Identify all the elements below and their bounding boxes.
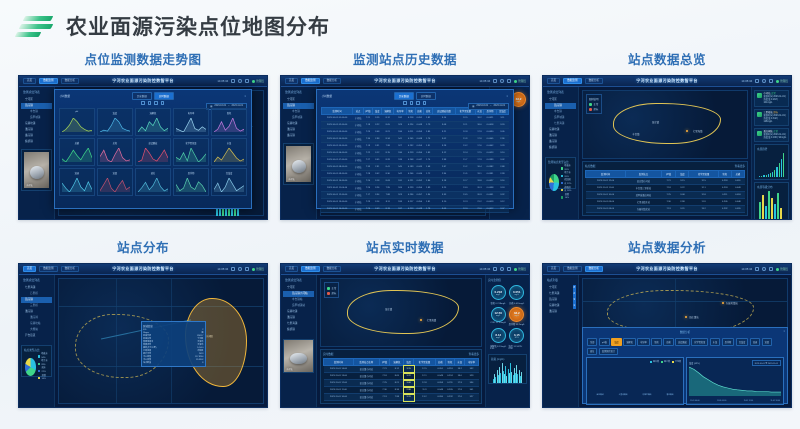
refresh-icon[interactable]: [762, 79, 766, 83]
table-cell: 8.34: [390, 387, 404, 394]
mini-trend-chart[interactable]: 水温: [211, 138, 247, 166]
table-cell: 12.8: [414, 380, 436, 387]
table-cell: 7.30: [363, 136, 373, 143]
metric-tag[interactable]: pH值: [599, 338, 610, 346]
table-cell: 7.26: [363, 206, 373, 213]
gauge[interactable]: 12.50mg/LCOD 12.50mg/L: [490, 307, 507, 327]
table-header-cell[interactable]: 化学需氧量: [414, 358, 436, 365]
metric-tag[interactable]: 溶解氧: [623, 338, 636, 346]
metric-tag[interactable]: 高锰酸盐: [675, 338, 690, 346]
sidebar-tree[interactable]: 七里海镇万里桥苗庄镇三里桥潘庄镇潘庄闸东棘坨站大杨站芦台街道: [21, 285, 52, 339]
table-cell: 2.98: [676, 199, 689, 206]
trend-modal[interactable]: 小时数据 历史数据 实时数据 × ▦: [54, 89, 252, 209]
table-row[interactable]: 2023-11-01 12:00苗庄镇小河站7.258.213.0812.80.…: [324, 380, 479, 387]
table-header-cell[interactable]: pH值: [379, 358, 390, 365]
table-cell: 0.051: [731, 178, 744, 185]
stat-row[interactable]: 三里桥站 超标更新时间 2023-11-01 | 浓度值 0.342 | 128…: [754, 109, 789, 126]
panel-title: 站点数据: [585, 164, 595, 168]
bar: [521, 372, 522, 383]
table-header-cell[interactable]: 氨氮: [718, 170, 731, 177]
card-title: 点位监测数据走势图: [84, 52, 201, 68]
print-icon[interactable]: [161, 101, 165, 105]
signal-icon[interactable]: [231, 267, 235, 271]
tab-analysis[interactable]: 数据分析: [585, 78, 603, 85]
metric-tag[interactable]: 流量: [762, 338, 772, 346]
table-row[interactable]: 2023-11-01 11:00丰台镇三里桥站7.183.2212.10.224…: [586, 185, 745, 192]
date-range-picker[interactable]: ▦ 2023-10-01 ~ 2023-11-01: [468, 103, 509, 110]
metric-tag[interactable]: 监测频次统计: [599, 348, 618, 356]
metric-tag[interactable]: 浑浊度: [736, 338, 749, 346]
mini-trend-chart[interactable]: 流量: [97, 168, 133, 196]
home-icon[interactable]: [507, 79, 511, 83]
tab-analysis[interactable]: 数据分析: [585, 266, 603, 273]
card-distribution: 站点分布 首页 数据监测 数据分析 宁河农业面源污染防控数智平台 14:05:3…: [18, 240, 268, 426]
clock: 14:05:34: [217, 267, 228, 271]
gauge[interactable]: 33.2mg/L悬浮物 33.2mg/L: [509, 307, 526, 327]
table-row[interactable]: 2023-11-01 12:00苗庄镇小河站7.213.1512.50.2180…: [586, 178, 745, 185]
table-cell: 12.8: [689, 192, 718, 199]
sidebar-tree[interactable]: 宁河区8七里海镇2苗庄镇3东棘坨镇1潘庄镇: [545, 285, 576, 315]
table-cell: 1.91: [424, 143, 433, 150]
sidebar-item-label: 丰台镇站: [292, 298, 302, 301]
legend-swatch: [561, 182, 562, 185]
right-rail: 小河站 正常更新时间 2023-11-01 | 浓度值 0.218 | 101m…: [751, 87, 791, 219]
refresh-icon[interactable]: [500, 79, 504, 83]
table-cell: 宁河站: [353, 157, 363, 164]
table-row[interactable]: 2023-10-01 10:00:00宁河站7.243.188.095310.2…: [321, 178, 508, 185]
metric-tag[interactable]: 流速: [750, 338, 760, 346]
legend-label: 养殖排水 16%: [564, 187, 572, 194]
device-shape: [290, 353, 306, 365]
region-map[interactable]: 正常 超标 苗庄镇 七里海镇: [320, 278, 482, 347]
mini-chart-title: 总氮: [100, 141, 130, 145]
tab-analysis[interactable]: 数据分析: [61, 266, 79, 273]
table-header-cell[interactable]: 监测站点: [626, 170, 662, 177]
metric-tag[interactable]: 氨氮: [651, 338, 661, 346]
sidebar-item-label: 大杨站: [30, 328, 38, 331]
table-row[interactable]: 2023-11-01 08:00东棘坨镇北站7.193.3113.20.2320…: [586, 206, 745, 213]
dashboard-header-right: 14:05:34 管理员: [479, 267, 526, 271]
table-row[interactable]: 2023-10-01 05:00:00宁河站7.193.317.985270.2…: [321, 143, 508, 150]
stat-row[interactable]: 潘庄闸站 正常更新时间 2023-11-01 | 浓度值 0.196 | 94m…: [754, 128, 789, 142]
dashboard-screenshot-history[interactable]: 首页 数据监测 数据分析 宁河农业面源污染防控数智平台 14:05:34 管理员: [280, 75, 530, 220]
table-header-cell[interactable]: 站点: [353, 107, 363, 114]
table-row[interactable]: 2023-10-01 03:00:00宁河站7.253.088.215340.2…: [321, 129, 508, 136]
table-cell: 12.0: [456, 206, 476, 213]
trend-panel: 水质趋势: [754, 144, 789, 180]
metric-tag[interactable]: 电导率: [637, 338, 650, 346]
tab-monitor[interactable]: 数据监测: [301, 78, 319, 85]
table-header-cell[interactable]: 氨氮: [406, 107, 415, 114]
mini-trend-chart[interactable]: 浑浊度: [211, 168, 247, 196]
donut-chart: [25, 358, 36, 376]
sparkline: [62, 148, 92, 162]
x-tick: 11-01 06:00: [717, 400, 726, 402]
status-badge: 正常: [771, 93, 776, 95]
dashboard-tabs[interactable]: 首页 数据监测 数据分析: [547, 266, 603, 273]
table-cell: 2.98: [373, 136, 382, 143]
sidebar-tree[interactable]: 宁河区苗庄镇丰台镇造甲城镇七里海镇东棘坨镇潘庄镇廉庄镇板桥镇: [545, 97, 576, 151]
refresh-icon[interactable]: [238, 267, 242, 271]
mini-trend-chart[interactable]: 氨氮: [211, 108, 247, 136]
photo-caption: 小河站: [286, 367, 293, 371]
history-data-table[interactable]: 监测时间站点pH值浊度溶解氧电导率氨氮总磷总氮高锰酸盐指数化学需氧量水温悬浮物浑…: [321, 107, 509, 213]
sidebar-item[interactable]: 芦台街道: [21, 333, 52, 339]
tab-monitor[interactable]: 数据监测: [39, 78, 57, 85]
table-cell: 2.94: [433, 171, 456, 178]
table-cell: 539: [394, 157, 406, 164]
grid-icon[interactable]: [410, 101, 414, 105]
mini-trend-chart[interactable]: 电导率: [173, 108, 209, 136]
sidebar-item[interactable]: 板桥镇: [21, 139, 52, 145]
dashboard-screenshot-realtime[interactable]: 首页 数据监测 数据分析 宁河农业面源污染防控数智平台 14:05:34 管理员: [280, 263, 530, 408]
table-cell: 0.0419: [484, 199, 496, 206]
history-modal[interactable]: 小时数据 历史数据 实时数据 × ▦: [316, 89, 514, 209]
signal-icon[interactable]: [231, 79, 235, 83]
close-icon[interactable]: ×: [506, 94, 508, 98]
metric-tag[interactable]: 总磷: [663, 338, 673, 346]
realtime-data-table[interactable]: 监测时间监测站点名称pH值溶解氧浊度化学需氧量总磷氨氮水温电导率2023-11-…: [323, 358, 479, 401]
table-cell: 7.88: [382, 192, 394, 199]
table-cell: 0.0412: [484, 206, 496, 213]
tab-home[interactable]: 首页: [547, 266, 560, 273]
analysis-panel[interactable]: 数据分析 × 全部pH值浊度溶解氧电导率氨氮总磷高锰酸盐化学需氧量水温悬浮物浑浊…: [582, 327, 788, 404]
area-chart: [689, 366, 781, 400]
tab-home[interactable]: 首页: [285, 78, 298, 85]
sparkline: [138, 178, 168, 192]
home-icon[interactable]: [245, 79, 249, 83]
table-cell: 1.81: [424, 199, 433, 206]
gauge[interactable]: 3.15NTU浊度 3.15NTU 0.00: [509, 328, 526, 350]
table-row[interactable]: 2023-10-01 07:00:00宁河站7.273.058.285390.2…: [321, 157, 508, 164]
dashboard-tabs[interactable]: 首页 数据监测 数据分析: [285, 78, 341, 85]
table-cell: 3.11: [496, 115, 508, 122]
table-cell: 7.98: [382, 143, 394, 150]
table-cell: 8.21: [390, 380, 404, 387]
dashboard-header: 首页 数据监测 数据分析 宁河农业面源污染防控数智平台 14:05:34 管理员: [281, 264, 529, 275]
mini-chart-title: 氨氮: [214, 111, 244, 115]
table-header-cell[interactable]: 监测时间: [324, 358, 354, 365]
grid-icon[interactable]: [148, 101, 152, 105]
mini-trend-chart[interactable]: 溶解氧: [135, 108, 171, 136]
table-cell: 3.08: [373, 129, 382, 136]
user-menu[interactable]: 管理员: [514, 267, 526, 271]
table-cell: 541: [394, 136, 406, 143]
user-menu[interactable]: 管理员: [252, 79, 264, 83]
table-row[interactable]: 2023-10-01 06:00:00宁河站7.223.128.155360.2…: [321, 150, 508, 157]
signal-icon[interactable]: [755, 267, 759, 271]
tab-monitor[interactable]: 数据监测: [563, 78, 581, 85]
table-header-cell[interactable]: 监测时间: [586, 170, 626, 177]
table-row[interactable]: 2023-11-01 10:00造甲城潘庄闸站7.253.0812.80.211…: [586, 192, 745, 199]
print-icon[interactable]: [423, 101, 427, 105]
gauge-caption: 氨氮 0.218mg/L: [491, 301, 506, 305]
table-cell: 0.0423: [484, 150, 496, 157]
tab-home[interactable]: 首页: [23, 78, 36, 85]
table-row[interactable]: 2023-10-01 13:00:00宁河站7.233.148.115330.2…: [321, 199, 508, 206]
table-header-cell[interactable]: 浊度: [676, 170, 689, 177]
table-header-cell[interactable]: 电导率: [465, 358, 479, 365]
sidebar-item-label: 七里海镇: [549, 292, 559, 295]
list-icon[interactable]: [403, 101, 407, 105]
gauge[interactable]: 8.12mg/L溶解氧 8.12mg/L 0.00: [490, 328, 507, 350]
metric-tag[interactable]: 悬浮物: [722, 338, 735, 346]
table-header-cell[interactable]: 电导率: [394, 107, 406, 114]
gauge[interactable]: 0.218mg/L氨氮 0.218mg/L: [490, 285, 507, 305]
export-icon[interactable]: [154, 101, 158, 105]
table-header-cell[interactable]: 溶解氧: [382, 107, 394, 114]
table-row[interactable]: 2023-11-01 13:00苗庄镇小河站7.188.053.2212.10.…: [324, 373, 479, 380]
user-menu[interactable]: 管理员: [252, 267, 264, 271]
map-label: 七里海镇: [693, 129, 703, 133]
table-cell: 0.232: [718, 206, 731, 213]
gauge-unit: mg/L: [496, 337, 500, 339]
table-cell: 0.054: [415, 185, 424, 192]
table-header-cell[interactable]: 总磷: [731, 170, 744, 177]
bar: [759, 202, 761, 219]
table-cell: 宁河站: [353, 185, 363, 192]
table-header-cell[interactable]: 溶解氧: [390, 358, 404, 365]
calendar-icon: ▦: [472, 105, 474, 108]
export-icon[interactable]: [416, 101, 420, 105]
sidebar-item[interactable]: 板桥镇: [283, 327, 314, 333]
table-cell: 12.1: [414, 373, 436, 380]
sidebar-item[interactable]: 廉庄镇: [283, 133, 314, 139]
legend-swatch: [561, 196, 563, 199]
table-row[interactable]: 2023-10-01 04:00:00宁河站7.302.988.345410.2…: [321, 136, 508, 143]
table-cell: 7.21: [379, 366, 390, 373]
table-cell: 1.78: [424, 206, 433, 213]
table-cell: 3.09: [373, 206, 382, 213]
stat-row[interactable]: 小河站 正常更新时间 2023-11-01 | 浓度值 0.218 | 101m…: [754, 90, 789, 107]
signal-icon[interactable]: [755, 79, 759, 83]
home-icon[interactable]: [245, 267, 249, 271]
signal-icon[interactable]: [493, 267, 497, 271]
dashboard-header-right: 14:05:34 管理员: [741, 79, 788, 83]
clock: 14:05:34: [217, 79, 228, 83]
segment-realtime[interactable]: 实时数据: [416, 92, 436, 100]
photo-caption: 小河站: [26, 183, 33, 187]
tab-monitor[interactable]: 数据监测: [563, 266, 581, 273]
table-cell: 7.95: [382, 185, 394, 192]
sidebar-item-label: 潘庄镇: [25, 310, 33, 313]
table-cell: 8.05: [382, 122, 394, 129]
refresh-icon[interactable]: [500, 267, 504, 271]
metric-tag[interactable]: 浊度: [611, 338, 621, 346]
legend-label: 最大值: [653, 360, 659, 363]
table-cell: 18.0: [455, 373, 465, 380]
table-header-cell[interactable]: 氨氮: [445, 358, 455, 365]
sidebar-item[interactable]: 潘庄镇: [545, 309, 576, 315]
segment-realtime[interactable]: 实时数据: [154, 92, 174, 100]
table-header-cell[interactable]: 监测时间: [321, 107, 353, 114]
table-cell: 1.89: [424, 185, 433, 192]
region-label: 宁河区: [206, 334, 213, 338]
metric-tag[interactable]: 液位: [587, 348, 597, 356]
table-header-cell[interactable]: 浊度: [373, 107, 382, 114]
station-marker[interactable]: [722, 302, 724, 304]
table-header-cell[interactable]: 总磷: [415, 107, 424, 114]
gauge-ring: 0.051mg/L: [509, 285, 524, 300]
mini-trend-chart[interactable]: 浊度: [97, 108, 133, 136]
mini-trend-chart[interactable]: 流速: [59, 168, 95, 196]
bar: [772, 172, 773, 177]
table-header-cell[interactable]: pH值: [661, 170, 676, 177]
date-sep: ~: [490, 105, 491, 107]
bar: [774, 204, 776, 219]
mini-trend-chart[interactable]: 悬浮物: [173, 168, 209, 196]
table-cell: 2023-11-01 11:00: [586, 185, 626, 192]
more-link[interactable]: 查看更多: [735, 164, 745, 168]
table-cell: 7.22: [363, 150, 373, 157]
page-title: 农业面源污染点位地图分布: [66, 11, 330, 41]
table-header-cell[interactable]: 浊度: [404, 358, 414, 365]
signal-icon[interactable]: [493, 79, 497, 83]
region-map[interactable]: 图例说明 正常 超标 苗庄镇 七里海镇 丰台镇: [582, 90, 748, 159]
gauge[interactable]: 0.051mg/L总磷 0.051mg/L: [509, 285, 526, 305]
gauge-unit: mg/L: [496, 315, 500, 317]
mini-trend-chart[interactable]: pH: [59, 108, 95, 136]
trend-bars: [757, 153, 786, 177]
table-row[interactable]: 2023-10-01 09:00:00宁河站7.283.028.305420.2…: [321, 171, 508, 178]
table-header-cell[interactable]: 总氮: [424, 107, 433, 114]
table-cell: 534: [465, 380, 479, 387]
table-cell: 3.33: [433, 192, 456, 199]
table-cell: 12.5: [689, 178, 718, 185]
tab-monitor[interactable]: 数据监测: [39, 266, 57, 273]
dashboard-tabs[interactable]: 首页 数据监测 数据分析: [547, 78, 603, 85]
table-cell: 2023-10-01 12:00:00: [321, 192, 353, 199]
tab-home[interactable]: 首页: [23, 266, 36, 273]
tab-analysis[interactable]: 数据分析: [323, 78, 341, 85]
segment-history[interactable]: 历史数据: [394, 92, 414, 100]
dashboard-screenshot-trend[interactable]: 首页 数据监测 数据分析 宁河农业面源污染防控数智平台 14:05:34 管理员: [18, 75, 268, 220]
table-row[interactable]: 2023-10-01 02:00:00宁河站7.183.228.055290.2…: [321, 122, 508, 129]
side-chart-panel: 氨氮 (mg/L): [488, 354, 527, 384]
trend-chart-grid: pH浊度溶解氧电导率氨氮总磷总氮高锰酸盐化学需氧量水温流速流量液位悬浮物浑浊度: [58, 106, 248, 198]
dashboard-header: 首页 数据监测 数据分析 宁河农业面源污染防控数智平台 14:05:34 管理员: [19, 76, 267, 87]
dashboard-tabs[interactable]: 首页 数据监测 数据分析: [23, 78, 79, 85]
list-icon[interactable]: [141, 101, 145, 105]
refresh-icon[interactable]: [238, 79, 242, 83]
metric-tag-list[interactable]: 全部pH值浊度溶解氧电导率氨氮总磷高锰酸盐化学需氧量水温悬浮物浑浊度流速流量液位…: [585, 336, 785, 357]
table-cell: 3.31: [373, 143, 382, 150]
table-cell: 3.34: [373, 192, 382, 199]
tab-monitor[interactable]: 数据监测: [301, 266, 319, 273]
table-row[interactable]: 2023-11-01 10:00苗庄镇小河站7.197.983.3113.20.…: [324, 394, 479, 401]
mini-chart-title: 浑浊度: [214, 171, 244, 175]
table-cell: 0.049: [731, 185, 744, 192]
table-header-cell[interactable]: 水温: [455, 358, 465, 365]
table-header-cell[interactable]: 监测站点名称: [353, 358, 379, 365]
station-data-table[interactable]: 监测时间监测站点pH值浊度化学需氧量氨氮总磷2023-11-01 12:00苗庄…: [585, 170, 745, 213]
table-row[interactable]: 2023-10-01 01:00:00宁河站7.213.158.125320.2…: [321, 115, 508, 122]
table-header-cell[interactable]: pH值: [363, 107, 373, 114]
table-header-cell[interactable]: 高锰酸盐指数: [433, 107, 456, 114]
table-cell: 12.5: [414, 366, 436, 373]
table-row[interactable]: 2023-10-01 14:00:00宁河站7.263.098.195370.2…: [321, 206, 508, 213]
more-link[interactable]: 查看更多: [469, 352, 479, 356]
mini-trend-chart[interactable]: 化学需氧量: [173, 138, 209, 166]
table-cell: 0.232: [406, 143, 415, 150]
table-cell: 0.206: [406, 171, 415, 178]
table-row[interactable]: 2023-10-01 08:00:00宁河站7.332.918.415450.1…: [321, 164, 508, 171]
table-header-cell[interactable]: 化学需氧量: [689, 170, 718, 177]
tab-home[interactable]: 首页: [547, 78, 560, 85]
legend-swatch: [661, 361, 663, 363]
info-popup[interactable]: 区域信息FID2Shape面区域代码120117区域名称宁河区所属地级市天津市所…: [141, 321, 206, 367]
home-icon[interactable]: [769, 79, 773, 83]
metric-tag[interactable]: 全部: [587, 338, 597, 346]
dashboard-tabs[interactable]: 首页 数据监测 数据分析: [23, 266, 79, 273]
gauge-group: 0.218mg/L氨氮 0.218mg/L0.051mg/L总磷 0.051mg…: [488, 283, 527, 352]
mini-trend-chart[interactable]: 总氮: [97, 138, 133, 166]
home-icon[interactable]: [769, 267, 773, 271]
table-row[interactable]: 2023-11-01 11:00苗庄镇小河站7.308.342.9811.90.…: [324, 387, 479, 394]
table-row[interactable]: 2023-10-01 11:00:00宁河站7.203.267.955260.2…: [321, 185, 508, 192]
metric-tag[interactable]: 化学需氧量: [691, 338, 708, 346]
table-header-cell[interactable]: 总磷: [435, 358, 445, 365]
table-cell: 0.0382: [484, 164, 496, 171]
table-cell: 0.0438: [484, 185, 496, 192]
mini-trend-chart[interactable]: 总磷: [59, 138, 95, 166]
tab-analysis[interactable]: 数据分析: [61, 78, 79, 85]
tab-analysis[interactable]: 数据分析: [323, 266, 341, 273]
table-cell: 2023-11-01 14:00: [324, 366, 354, 373]
user-menu[interactable]: 管理员: [514, 79, 526, 83]
modal-segment-control[interactable]: 历史数据 实时数据: [394, 92, 436, 100]
close-icon[interactable]: ×: [244, 94, 246, 98]
user-menu[interactable]: 管理员: [776, 267, 788, 271]
table-cell: 533: [394, 199, 406, 206]
mini-trend-chart[interactable]: 高锰酸盐: [135, 138, 171, 166]
table-cell: 0.048: [731, 199, 744, 206]
table-row[interactable]: 2023-11-01 09:00七里海镇东站7.302.9811.90.2050…: [586, 199, 745, 206]
table-cell: 523: [394, 192, 406, 199]
table-cell: 2.88: [496, 164, 508, 171]
metric-tag[interactable]: 水温: [710, 338, 720, 346]
modal-segment-control[interactable]: 历史数据 实时数据: [132, 92, 174, 100]
dashboard-screenshot-overview[interactable]: 首页 数据监测 数据分析 宁河农业面源污染防控数智平台 14:05:34 管理员: [542, 75, 792, 220]
dashboard-tabs[interactable]: 首页 数据监测 数据分析: [285, 266, 341, 273]
user-menu[interactable]: 管理员: [776, 79, 788, 83]
tab-home[interactable]: 首页: [285, 266, 298, 273]
sidebar-item[interactable]: 板桥镇: [545, 145, 576, 151]
table-cell: 527: [465, 394, 479, 401]
segment-history[interactable]: 历史数据: [132, 92, 152, 100]
table-cell: 17.5: [475, 150, 484, 157]
gauge-caption: 悬浮物 33.2mg/L: [509, 322, 525, 326]
station-marker[interactable]: [685, 316, 687, 318]
mini-trend-chart[interactable]: 液位: [135, 168, 171, 196]
modal-label: 小时数据: [60, 94, 70, 98]
table-cell: 12.8: [456, 129, 476, 136]
table-row[interactable]: 2023-11-01 14:00苗庄镇小河站7.218.123.1512.50.…: [324, 366, 479, 373]
close-icon[interactable]: ×: [783, 330, 785, 333]
clock: 14:05:34: [741, 267, 752, 271]
home-icon[interactable]: [507, 267, 511, 271]
user-label: 管理员: [256, 267, 264, 271]
dashboard-screenshot-analysis[interactable]: 首页 数据监测 数据分析 宁河农业面源污染防控数智平台 14:05:34 管理员: [542, 263, 792, 408]
user-label: 管理员: [256, 79, 264, 83]
sidebar-tree[interactable]: 宁河区苗庄镇小河站丰台镇站造甲城镇站东棘坨镇潘庄镇七里海镇板桥镇: [283, 285, 314, 333]
table-cell: 8.30: [382, 171, 394, 178]
refresh-icon[interactable]: [762, 267, 766, 271]
detail-map[interactable]: 宁河区 区域信息FID2Shape面区域代码120117区域名称宁河区所属地级市…: [58, 278, 264, 404]
table-row[interactable]: 2023-10-01 12:00:00宁河站7.173.347.885230.2…: [321, 192, 508, 199]
dashboard-screenshot-distribution[interactable]: 首页 数据监测 数据分析 宁河农业面源污染防控数智平台 14:05:34 管理员: [18, 263, 268, 408]
dashboard-header: 首页 数据监测 数据分析 宁河农业面源污染防控数智平台 14:05:34 管理员: [543, 264, 791, 275]
